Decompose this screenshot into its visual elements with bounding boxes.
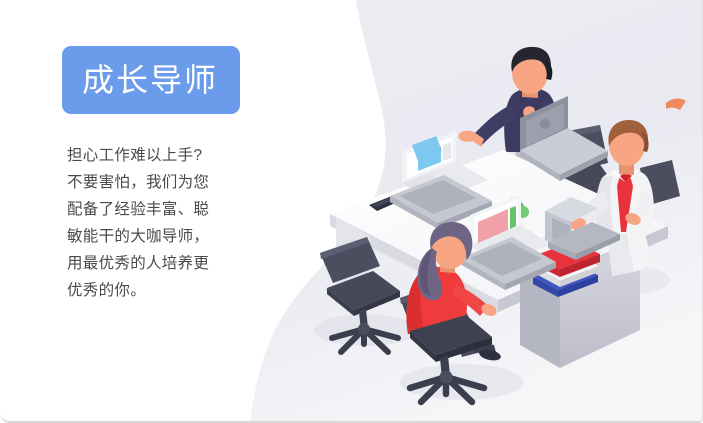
growth-mentor-banner: 成长导师 担心工作难以上手? 不要害怕，我们为您 配备了经验丰富、聪 敏能干的大… (0, 0, 703, 423)
description-line-4: 敏能干的大咖导师， (67, 223, 292, 250)
description-text: 担心工作难以上手? 不要害怕，我们为您 配备了经验丰富、聪 敏能干的大咖导师， … (62, 142, 292, 304)
description-line-5: 用最优秀的人培养更 (67, 250, 292, 277)
description-line-3: 配备了经验丰富、聪 (67, 196, 292, 223)
description-line-6: 优秀的你。 (67, 277, 292, 304)
description-line-1: 担心工作难以上手? (67, 142, 292, 169)
accent-orange-shape (666, 99, 686, 110)
laptop-logo (540, 119, 550, 129)
text-column: 成长导师 担心工作难以上手? 不要害怕，我们为您 配备了经验丰富、聪 敏能干的大… (62, 46, 292, 304)
title-badge: 成长导师 (62, 46, 240, 114)
description-line-2: 不要害怕，我们为您 (67, 169, 292, 196)
